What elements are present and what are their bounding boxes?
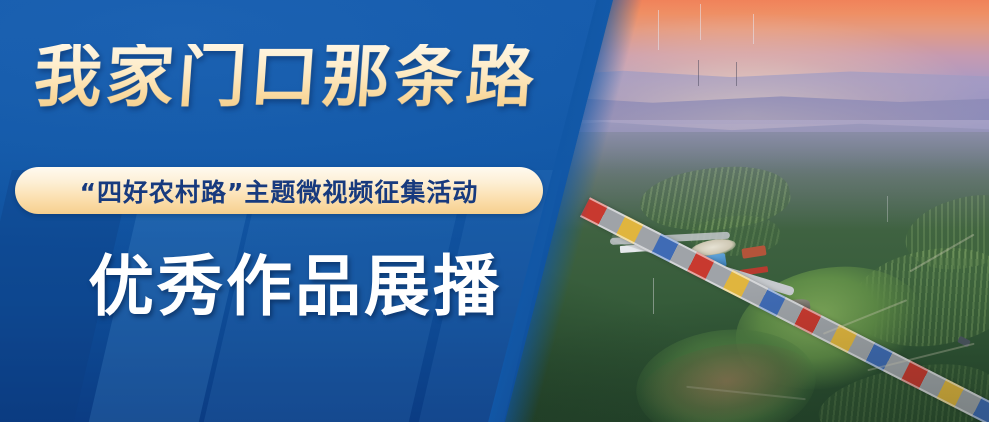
subtitle-pill: “四好农村路”主题微视频征集活动 bbox=[15, 167, 543, 214]
main-title: 我家门口那条路 bbox=[32, 44, 547, 112]
promo-banner: 我家门口那条路 “四好农村路”主题微视频征集活动 优秀作品展播 bbox=[0, 0, 989, 422]
subtitle-pill-label: “四好农村路”主题微视频征集活动 bbox=[80, 173, 479, 209]
banner-content: 我家门口那条路 “四好农村路”主题微视频征集活动 优秀作品展播 bbox=[0, 0, 989, 422]
secondary-title: 优秀作品展播 bbox=[88, 253, 502, 319]
